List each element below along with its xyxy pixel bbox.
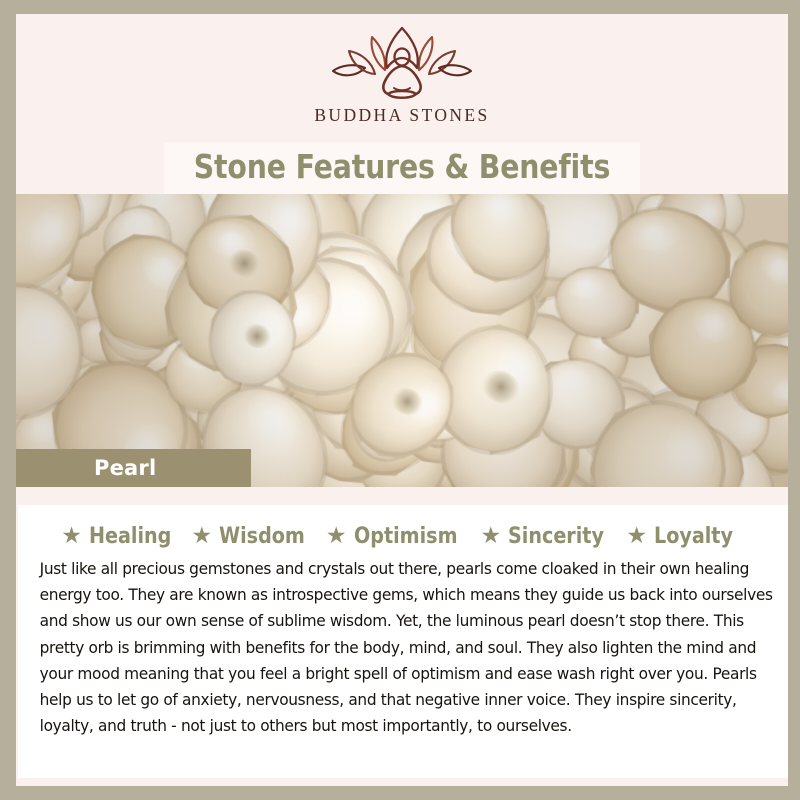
photo-text-gap bbox=[16, 487, 788, 505]
lotus-meditation-figure-icon bbox=[327, 24, 477, 104]
keyword-label: Optimism bbox=[354, 524, 458, 549]
keyword-label: Loyalty bbox=[654, 524, 733, 549]
keyword-label: Wisdom bbox=[219, 524, 305, 549]
keyword-item-optimism: ★Optimism bbox=[326, 524, 473, 549]
keyword-item-sincerity: ★Sincerity bbox=[481, 524, 619, 549]
poster-card: BUDDHA STONES Stone Features & Benefits … bbox=[16, 14, 788, 786]
photo-caption-label: Pearl bbox=[16, 456, 156, 480]
star-icon: ★ bbox=[326, 524, 347, 547]
star-icon: ★ bbox=[192, 524, 213, 547]
content-panel: ★Healing★Wisdom★Optimism★Sincerity★Loyal… bbox=[18, 505, 788, 778]
keyword-list: ★Healing★Wisdom★Optimism★Sincerity★Loyal… bbox=[32, 519, 774, 553]
star-icon: ★ bbox=[61, 524, 82, 547]
title-band: Stone Features & Benefits bbox=[16, 142, 788, 194]
brand-name: BUDDHA STONES bbox=[314, 105, 489, 126]
keyword-item-wisdom: ★Wisdom bbox=[192, 524, 318, 549]
poster-frame: BUDDHA STONES Stone Features & Benefits … bbox=[0, 0, 800, 800]
brand-header: BUDDHA STONES bbox=[16, 14, 788, 142]
keyword-item-healing: ★Healing bbox=[61, 524, 183, 549]
pearl-photo: Pearl bbox=[16, 194, 788, 487]
keyword-label: Sincerity bbox=[508, 524, 604, 549]
page-title: Stone Features & Benefits bbox=[70, 142, 734, 194]
star-icon: ★ bbox=[481, 524, 502, 547]
body-paragraph: Just like all precious gemstones and cry… bbox=[32, 556, 775, 739]
keyword-item-loyalty: ★Loyalty bbox=[626, 524, 744, 549]
star-icon: ★ bbox=[626, 524, 647, 547]
pearl-photo-canvas bbox=[16, 194, 788, 487]
keyword-label: Healing bbox=[89, 524, 171, 549]
photo-caption-bar: Pearl bbox=[16, 449, 251, 487]
bottom-strip bbox=[16, 778, 788, 786]
